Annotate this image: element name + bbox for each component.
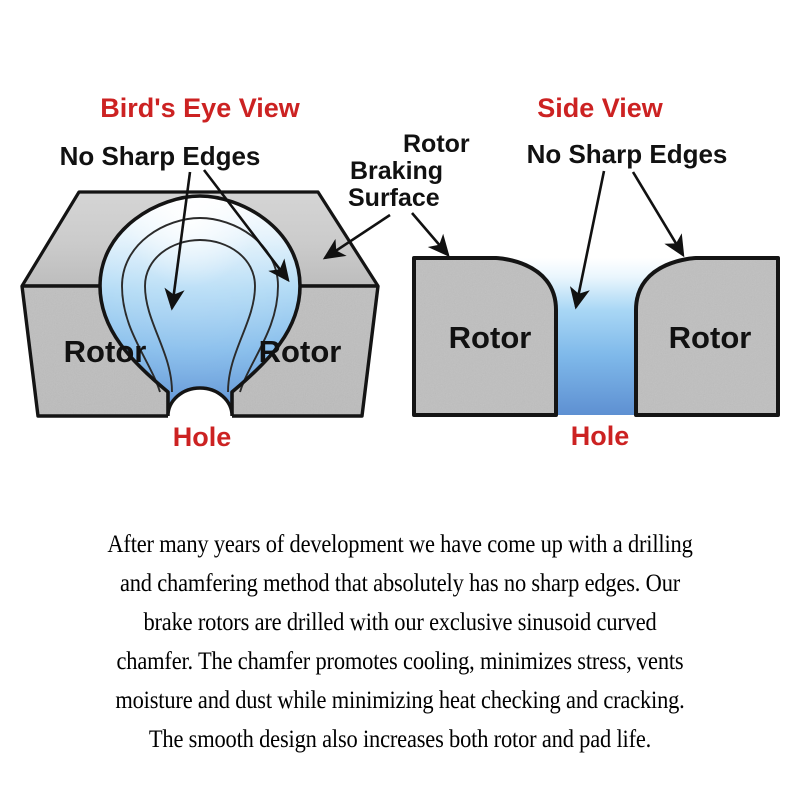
birds-eye-title: Bird's Eye View bbox=[100, 93, 301, 123]
paragraph-line-2: and chamfering method that absolutely ha… bbox=[55, 563, 745, 602]
braking-surface-arrow-right bbox=[412, 213, 448, 255]
paragraph-line-1: After many years of development we have … bbox=[55, 524, 745, 563]
side-view-no-sharp-edges-label: No Sharp Edges bbox=[527, 139, 728, 169]
birds-eye-hole-label: Hole bbox=[173, 422, 232, 452]
rotor-chamfer-diagram: Bird's Eye View Side View No Sharp Edges… bbox=[0, 0, 800, 500]
paragraph-line-4: chamfer. The chamfer promotes cooling, m… bbox=[55, 641, 745, 680]
birds-eye-block: Rotor Rotor Hole bbox=[22, 192, 378, 452]
braking-surface-line-3: Surface bbox=[348, 184, 440, 212]
birds-eye-rotor-label-right: Rotor bbox=[259, 334, 342, 369]
paragraph-line-3: brake rotors are drilled with our exclus… bbox=[55, 602, 745, 641]
description-paragraph: After many years of development we have … bbox=[55, 524, 745, 758]
side-view-hole-label: Hole bbox=[571, 421, 630, 451]
side-view-rotor-label-left: Rotor bbox=[449, 320, 532, 355]
birds-eye-rotor-label-left: Rotor bbox=[64, 334, 147, 369]
braking-surface-line-2: Braking bbox=[350, 157, 443, 185]
paragraph-line-5: moisture and dust while minimizing heat … bbox=[55, 680, 745, 719]
side-view-block: Rotor Rotor Hole bbox=[414, 258, 778, 451]
paragraph-line-6: The smooth design also increases both ro… bbox=[55, 719, 745, 758]
side-view-title: Side View bbox=[537, 93, 664, 123]
birds-eye-no-sharp-edges-label: No Sharp Edges bbox=[60, 141, 261, 171]
arrow-right bbox=[633, 172, 683, 255]
rotor-braking-surface-label: Rotor Braking Surface bbox=[348, 130, 470, 212]
braking-surface-line-1: Rotor bbox=[403, 130, 470, 158]
side-view-rotor-label-right: Rotor bbox=[669, 320, 752, 355]
diagram-page: Bird's Eye View Side View No Sharp Edges… bbox=[0, 0, 800, 800]
